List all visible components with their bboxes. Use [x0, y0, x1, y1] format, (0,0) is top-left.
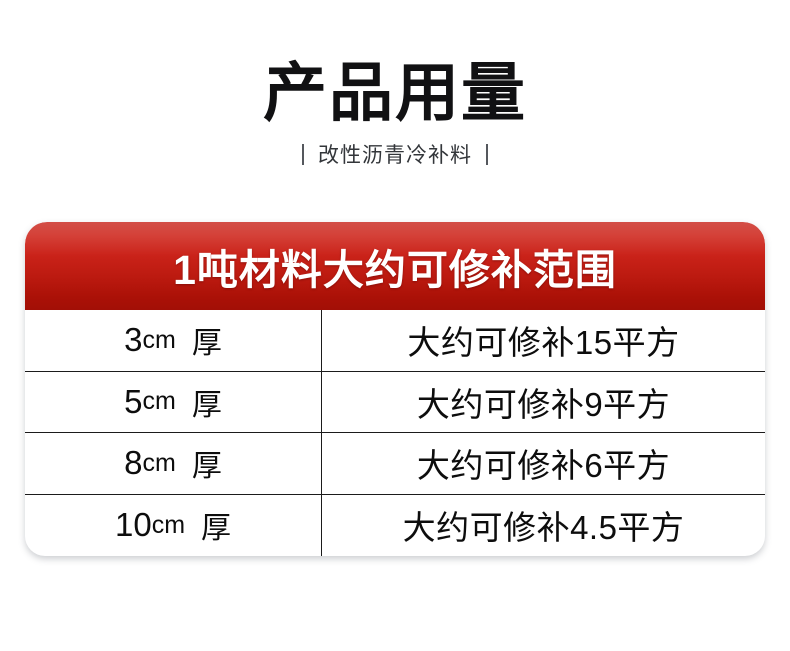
coverage-value: 大约可修补4.5平方: [403, 501, 685, 549]
coverage-value: 大约可修补9平方: [417, 378, 670, 426]
page-title: 产品用量: [0, 60, 790, 127]
thickness-word: 厚: [192, 318, 222, 362]
thickness-value: 8: [124, 444, 142, 482]
thickness-word: 厚: [192, 380, 222, 424]
cell-thickness: 5cm厚: [25, 372, 322, 433]
thickness-value: 3: [124, 321, 142, 359]
thickness-unit: cm: [152, 511, 185, 540]
usage-table-card: 1吨材料大约可修补范围 3cm厚 大约可修补15平方 5cm厚 大约可修补9平方: [25, 222, 765, 556]
thickness-value: 10: [115, 506, 152, 544]
cell-thickness: 8cm厚: [25, 433, 322, 494]
cell-thickness: 3cm厚: [25, 310, 322, 371]
cell-coverage: 大约可修补6平方: [322, 433, 765, 494]
subtitle-divider-right-icon: [486, 144, 488, 165]
table-row: 8cm厚 大约可修补6平方: [25, 433, 765, 495]
thickness-unit: cm: [143, 326, 176, 355]
cell-coverage: 大约可修补15平方: [322, 310, 765, 371]
thickness-unit: cm: [143, 449, 176, 478]
cell-thickness: 10cm厚: [25, 495, 322, 557]
table-row: 5cm厚 大约可修补9平方: [25, 372, 765, 434]
cell-coverage: 大约可修补4.5平方: [322, 495, 765, 557]
card-banner-title: 1吨材料大约可修补范围: [173, 236, 617, 296]
page-subtitle: 改性沥青冷补料: [318, 139, 472, 169]
subtitle-row: 改性沥青冷补料: [0, 139, 790, 169]
table-row: 10cm厚 大约可修补4.5平方: [25, 495, 765, 557]
heading-block: 产品用量 改性沥青冷补料: [0, 60, 790, 169]
coverage-value: 大约可修补6平方: [417, 439, 670, 487]
coverage-value: 大约可修补15平方: [407, 316, 679, 364]
thickness-word: 厚: [192, 441, 222, 485]
table-row: 3cm厚 大约可修补15平方: [25, 310, 765, 372]
thickness-word: 厚: [201, 503, 231, 547]
product-usage-infographic: 产品用量 改性沥青冷补料 1吨材料大约可修补范围 3cm厚 大约可修补15平方 …: [0, 0, 790, 651]
cell-coverage: 大约可修补9平方: [322, 372, 765, 433]
card-banner: 1吨材料大约可修补范围: [25, 222, 765, 310]
thickness-value: 5: [124, 383, 142, 421]
subtitle-divider-left-icon: [302, 144, 304, 165]
usage-table: 3cm厚 大约可修补15平方 5cm厚 大约可修补9平方 8cm厚: [25, 310, 765, 556]
thickness-unit: cm: [143, 387, 176, 416]
